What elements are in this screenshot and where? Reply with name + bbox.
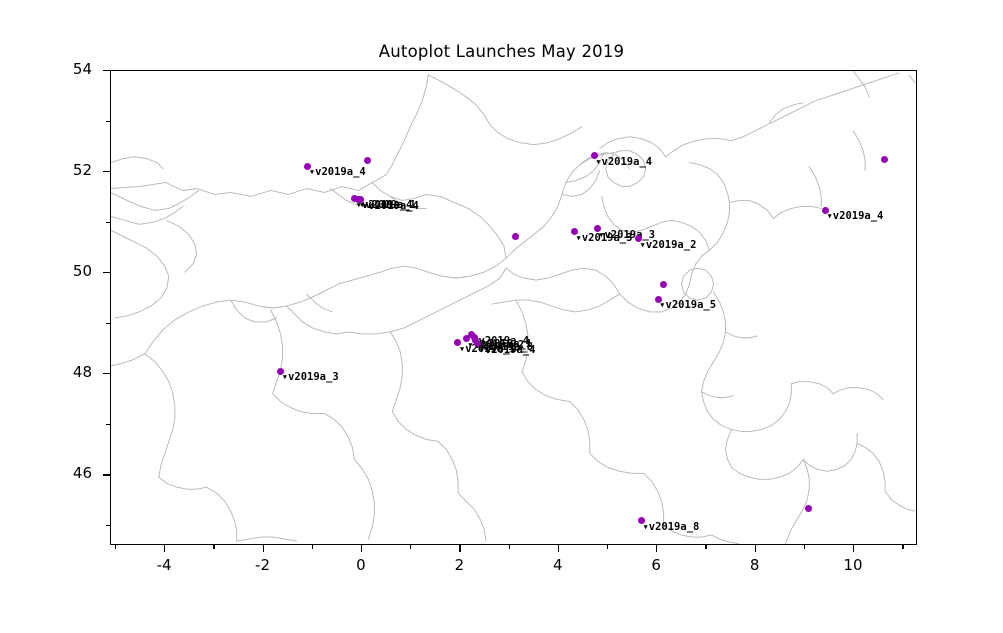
- plot-axes: ▾v2019a_4▾v2019a_4▾v2019a_1▾v2019a_4▾v20…: [110, 70, 917, 545]
- scatter-point[interactable]: [660, 281, 667, 288]
- x-tick-minor: [804, 545, 805, 549]
- point-label: ▾v2019a_4: [826, 210, 883, 222]
- x-tick-minor: [115, 545, 116, 549]
- x-tick-minor: [312, 545, 313, 549]
- point-label: ▾v2019a_3: [282, 371, 339, 383]
- y-tick-minor: [106, 424, 110, 425]
- scatter-point[interactable]: [805, 505, 812, 512]
- point-label: ▾v2019a_8: [642, 521, 699, 533]
- y-tick-minor: [106, 323, 110, 324]
- y-tick-minor: [106, 222, 110, 223]
- x-tick-major: [558, 545, 559, 552]
- x-tick-label: 4: [528, 556, 588, 574]
- x-tick-label: -2: [233, 556, 293, 574]
- x-tick-major: [459, 545, 460, 552]
- x-tick-major: [853, 545, 854, 552]
- y-tick-minor: [106, 525, 110, 526]
- y-tick-label: 50: [32, 262, 92, 280]
- y-tick-major: [103, 70, 110, 71]
- y-tick-label: 52: [32, 161, 92, 179]
- x-tick-major: [361, 545, 362, 552]
- x-tick-label: 8: [725, 556, 785, 574]
- scatter-point[interactable]: [881, 156, 888, 163]
- scatter-point[interactable]: [512, 233, 519, 240]
- y-tick-label: 54: [32, 60, 92, 78]
- x-tick-minor: [902, 545, 903, 549]
- x-tick-label: 6: [626, 556, 686, 574]
- point-label: ▾v2019a_4: [309, 166, 366, 178]
- x-tick-label: 10: [823, 556, 883, 574]
- y-tick-major: [103, 474, 110, 475]
- point-label: ▾v2019a_4: [362, 200, 419, 212]
- point-label: ▾v2019a_2: [640, 239, 697, 251]
- y-tick-major: [103, 272, 110, 273]
- point-label: ▾v2019a_5: [659, 299, 716, 311]
- x-tick-minor: [705, 545, 706, 549]
- x-tick-label: -4: [134, 556, 194, 574]
- point-label: ▾v2019a_4: [595, 156, 652, 168]
- x-tick-minor: [410, 545, 411, 549]
- x-tick-minor: [213, 545, 214, 549]
- x-tick-minor: [607, 545, 608, 549]
- x-tick-label: 2: [429, 556, 489, 574]
- scatter-points-layer: ▾v2019a_4▾v2019a_4▾v2019a_1▾v2019a_4▾v20…: [111, 71, 916, 544]
- x-tick-major: [656, 545, 657, 552]
- y-tick-label: 48: [32, 363, 92, 381]
- point-label: ▾v2019a_4: [479, 344, 536, 356]
- y-tick-label: 46: [32, 464, 92, 482]
- figure-canvas: Autoplot Launches May 2019: [0, 0, 1003, 633]
- x-tick-major: [263, 545, 264, 552]
- x-tick-minor: [509, 545, 510, 549]
- y-tick-major: [103, 373, 110, 374]
- y-tick-minor: [106, 121, 110, 122]
- x-tick-major: [755, 545, 756, 552]
- x-tick-major: [164, 545, 165, 552]
- chart-title: Autoplot Launches May 2019: [0, 42, 1003, 61]
- y-tick-major: [103, 171, 110, 172]
- x-tick-label: 0: [331, 556, 391, 574]
- scatter-point[interactable]: [364, 157, 371, 164]
